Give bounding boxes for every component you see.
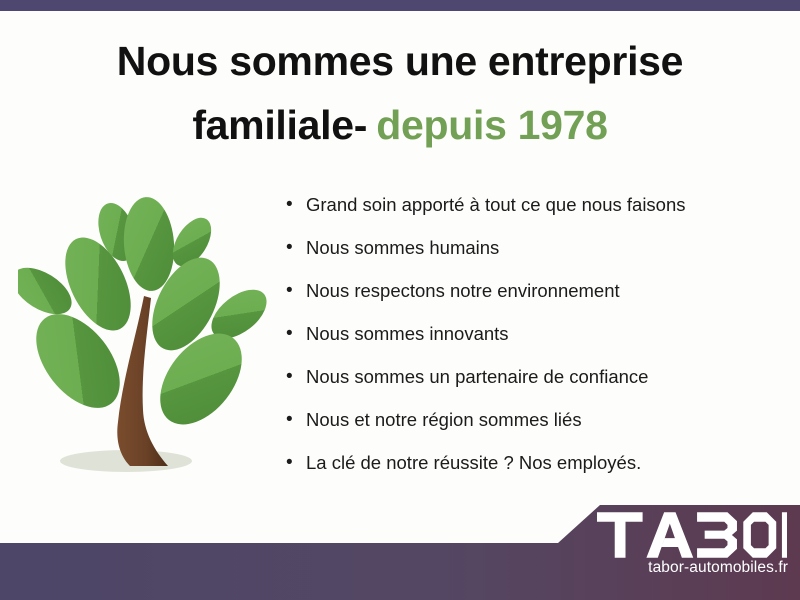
bullet-marker-icon: • xyxy=(286,192,306,218)
list-item: • La clé de notre réussite ? Nos employé… xyxy=(286,450,786,493)
title-text-main: Nous sommes une entreprise xyxy=(117,38,683,84)
list-item-label: La clé de notre réussite ? Nos employés. xyxy=(306,450,641,476)
bullet-marker-icon: • xyxy=(286,450,306,476)
top-accent-bar xyxy=(0,0,800,11)
list-item: • Nous sommes un partenaire de confiance xyxy=(286,364,786,407)
list-item-label: Nous et notre région sommes liés xyxy=(306,407,582,433)
brand-url-label[interactable]: tabor-automobiles.fr xyxy=(597,559,792,577)
list-item-label: Nous sommes innovants xyxy=(306,321,509,347)
title-text-secondary: familiale xyxy=(192,102,353,148)
list-item: • Nous sommes humains xyxy=(286,235,786,278)
brand-logo[interactable]: tabor-automobiles.fr xyxy=(597,512,792,590)
bullet-marker-icon: • xyxy=(286,278,306,304)
title-line-1: Nous sommes une entreprise xyxy=(0,34,800,98)
bullet-marker-icon: • xyxy=(286,407,306,433)
title-dash: - xyxy=(354,102,368,148)
list-item: • Nous respectons notre environnement xyxy=(286,278,786,321)
list-item-label: Nous sommes un partenaire de confiance xyxy=(306,364,648,390)
list-item: • Grand soin apporté à tout ce que nous … xyxy=(286,192,786,235)
bullet-marker-icon: • xyxy=(286,235,306,261)
bullet-list: • Grand soin apporté à tout ce que nous … xyxy=(286,192,786,493)
tabor-wordmark-icon xyxy=(597,512,787,558)
list-item-label: Nous sommes humains xyxy=(306,235,499,261)
list-item: • Nous et notre région sommes liés xyxy=(286,407,786,450)
slide-canvas: Nous sommes une entreprise familiale- de… xyxy=(0,0,800,600)
list-item-label: Nous respectons notre environnement xyxy=(306,278,620,304)
page-title: Nous sommes une entreprise familiale- de… xyxy=(0,34,800,162)
bullet-marker-icon: • xyxy=(286,321,306,347)
list-item: • Nous sommes innovants xyxy=(286,321,786,364)
tree-illustration xyxy=(18,196,270,488)
title-line-2: familiale- depuis 1978 xyxy=(0,98,800,162)
title-text-accent: depuis 1978 xyxy=(376,102,607,148)
bullet-marker-icon: • xyxy=(286,364,306,390)
list-item-label: Grand soin apporté à tout ce que nous fa… xyxy=(306,192,686,218)
